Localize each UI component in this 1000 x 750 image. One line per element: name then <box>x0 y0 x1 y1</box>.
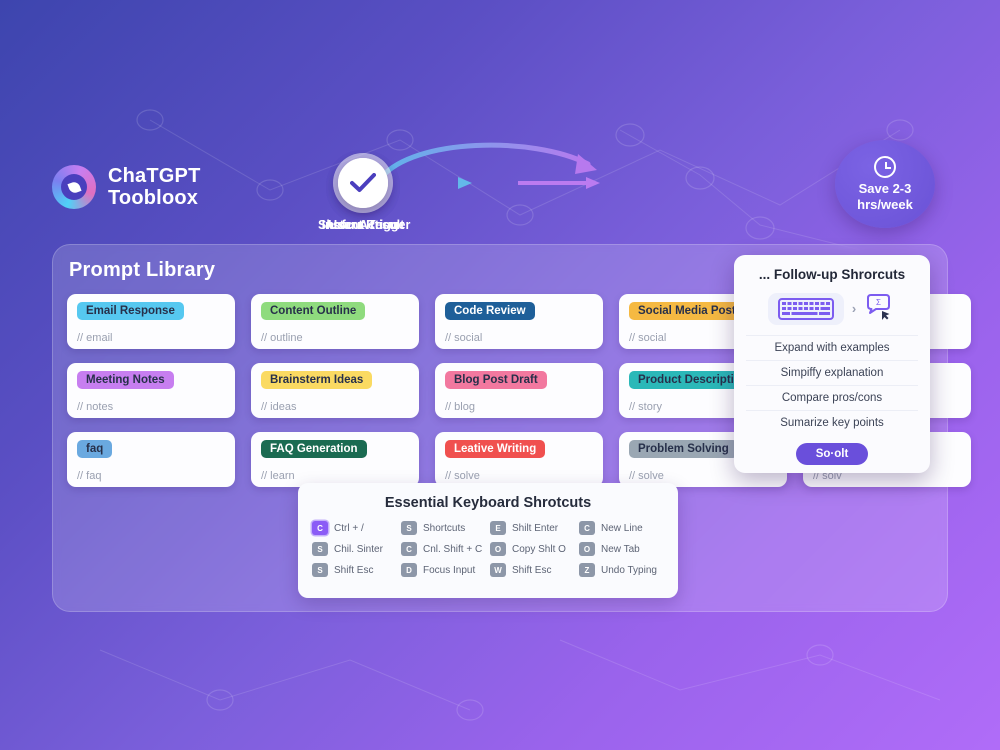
save-line-2: hrs/week <box>857 197 913 212</box>
keyboard-shortcut-label: New Tab <box>601 544 640 555</box>
prompt-card-chip: Email Response <box>77 302 184 320</box>
keyboard-shortcut-label: Shilt Enter <box>512 523 558 534</box>
keyboard-shortcut-label: Ctrl + / <box>334 523 364 534</box>
prompt-card[interactable]: faq// faq <box>67 432 235 487</box>
keyboard-shortcut-label: Cnl. Shift + C <box>423 544 482 555</box>
keyboard-shortcut-item[interactable]: CCtrl + / <box>312 521 397 535</box>
prompt-card[interactable]: Blog Post Draft// blog <box>435 363 603 418</box>
followup-shortcuts-popup: ... Follow-up Shrorcuts <box>734 255 930 473</box>
keyboard-shortcut-label: Shortcuts <box>423 523 465 534</box>
keyboard-shortcut-item[interactable]: SShortcuts <box>401 521 486 535</box>
keyboard-shortcut-label: Shift Esc <box>334 565 373 576</box>
prompt-card[interactable]: Email Response// email <box>67 294 235 349</box>
popup-title: ... Follow-up Shrorcuts <box>746 267 918 282</box>
save-badge-text: Save 2-3 hrs/week <box>857 181 913 212</box>
keyboard-shortcut-label: Focus Input <box>423 565 475 576</box>
keyboard-shortcut-item[interactable]: SShift Esc <box>312 563 397 577</box>
prompt-card[interactable]: Meeting Notes// notes <box>67 363 235 418</box>
keyboard-shortcuts-grid: CCtrl + /SShortcutsEShilt EnterCNew Line… <box>312 521 664 577</box>
keyboard-shortcut-label: New Line <box>601 523 643 534</box>
prompt-card[interactable]: FAQ Generation// learn <box>251 432 419 487</box>
prompt-card-slug: // learn <box>261 470 409 482</box>
key-cap-icon: S <box>312 563 328 577</box>
keyboard-shortcut-item[interactable]: DFocus Input <box>401 563 486 577</box>
keyboard-shortcut-item[interactable]: WShift Esc <box>490 563 575 577</box>
prompt-card[interactable]: Brainsterm Ideas// ideas <box>251 363 419 418</box>
brand-line-2: Toobloox <box>108 187 201 209</box>
keyboard-shortcut-item[interactable]: EShilt Enter <box>490 521 575 535</box>
prompt-card-chip: Meeting Notes <box>77 371 174 389</box>
flow-arrow-loop <box>373 136 623 186</box>
key-cap-icon: C <box>579 521 595 535</box>
key-cap-icon: W <box>490 563 506 577</box>
brand-logo[interactable]: ChaTGPT Toobloox <box>52 165 201 210</box>
popup-options-list: Expand with examplesSimpiffy explanation… <box>746 335 918 435</box>
scroll-button[interactable]: So·olt <box>796 443 869 465</box>
key-cap-icon: C <box>312 521 328 535</box>
prompt-card-chip: Content Outline <box>261 302 365 320</box>
prompt-card-chip: FAQ Generation <box>261 440 367 458</box>
prompt-card-slug: // social <box>445 332 593 344</box>
save-line-1: Save 2-3 <box>857 181 913 196</box>
prompt-card-chip: Social Media Post <box>629 302 745 320</box>
keyboard-shortcut-item[interactable]: ZUndo Typing <box>579 563 664 577</box>
flow-label-3: Instant Result <box>318 218 408 232</box>
svg-text:Σ: Σ <box>876 298 881 307</box>
keyboard-shortcut-item[interactable]: ONew Tab <box>579 542 664 556</box>
prompt-card-slug: // solve <box>445 470 593 482</box>
chevron-right-icon: › <box>852 301 856 316</box>
popup-icon-row: › Σ <box>746 292 918 325</box>
page-title: Prompt Library <box>69 259 215 282</box>
prompt-card-slug: // ideas <box>261 401 409 413</box>
prompt-card-chip: faq <box>77 440 112 458</box>
popup-option[interactable]: Sumarize key points <box>746 410 918 435</box>
flow-step-instant-result[interactable]: Instant Result <box>318 158 408 232</box>
keyboard-shortcuts-title: Essential Keyboard Shrotcuts <box>312 495 664 511</box>
keyboard-shortcut-label: Copy Shlt O <box>512 544 566 555</box>
keyboard-shortcut-label: Chil. Sinter <box>334 544 383 555</box>
keyboard-shortcut-item[interactable]: OCopy Shlt O <box>490 542 575 556</box>
keyboard-shortcut-item[interactable]: CCnl. Shift + C <box>401 542 486 556</box>
key-cap-icon: C <box>401 542 417 556</box>
prompt-card[interactable]: Content Outline// outline <box>251 294 419 349</box>
droplet-logo-icon <box>52 165 96 209</box>
clock-icon <box>874 156 896 178</box>
key-cap-icon: S <box>312 542 328 556</box>
save-time-badge: Save 2-3 hrs/week <box>835 140 935 228</box>
prompt-card[interactable]: Code Review// social <box>435 294 603 349</box>
prompt-card-slug: // email <box>77 332 225 344</box>
prompt-card-slug: // blog <box>445 401 593 413</box>
brand-line-1: ChaTGPT <box>108 165 201 187</box>
popup-option[interactable]: Compare pros/cons <box>746 385 918 410</box>
workflow-diagram: User Action Shofcut Trigger Instant Resu… <box>318 158 698 238</box>
keyboard-shortcut-label: Shift Esc <box>512 565 551 576</box>
key-cap-icon: S <box>401 521 417 535</box>
keyboard-shortcut-item[interactable]: SChil. Sinter <box>312 542 397 556</box>
click-cursor-icon: Σ <box>864 292 896 325</box>
prompt-card-slug: // faq <box>77 470 225 482</box>
prompt-card-chip: Brainsterm Ideas <box>261 371 372 389</box>
prompt-card-chip: Leative Writing <box>445 440 545 458</box>
prompt-card-chip: Problem Solving <box>629 440 738 458</box>
key-cap-icon: O <box>490 542 506 556</box>
keyboard-icon[interactable] <box>768 293 844 325</box>
popup-option[interactable]: Expand with examples <box>746 335 918 360</box>
popup-option[interactable]: Simpiffy explanation <box>746 360 918 385</box>
keyboard-shortcut-item[interactable]: CNew Line <box>579 521 664 535</box>
prompt-card-chip: Code Review <box>445 302 535 320</box>
prompt-card-chip: Blog Post Draft <box>445 371 547 389</box>
key-cap-icon: Z <box>579 563 595 577</box>
prompt-card-slug: // outline <box>261 332 409 344</box>
check-icon <box>338 158 388 208</box>
prompt-card[interactable]: Leative Writing// solve <box>435 432 603 487</box>
keyboard-shortcut-label: Undo Typing <box>601 565 657 576</box>
key-cap-icon: O <box>579 542 595 556</box>
brand-name: ChaTGPT Toobloox <box>108 165 201 210</box>
keyboard-shortcuts-card: Essential Keyboard Shrotcuts CCtrl + /SS… <box>298 483 678 598</box>
key-cap-icon: D <box>401 563 417 577</box>
prompt-card-slug: // notes <box>77 401 225 413</box>
key-cap-icon: E <box>490 521 506 535</box>
